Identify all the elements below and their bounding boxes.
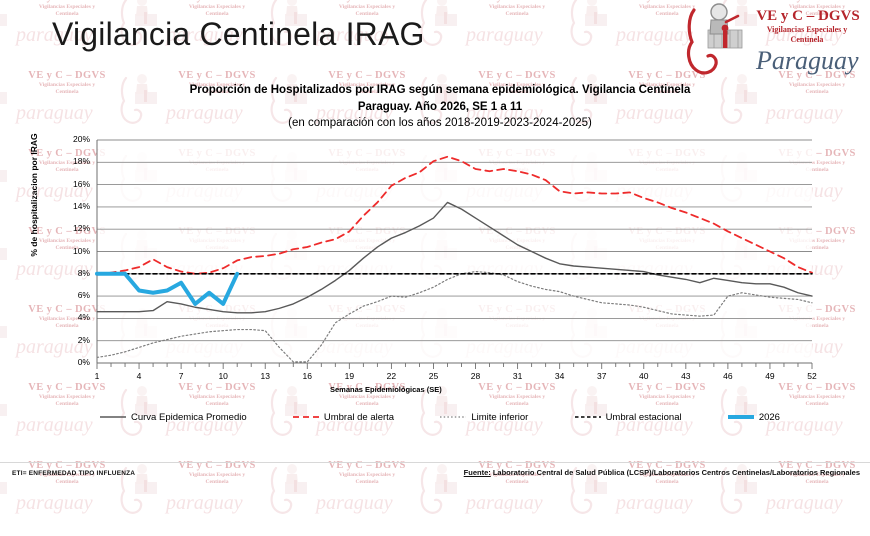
x-axis-tick-label: 13 [253,371,277,381]
x-axis-tick-label: 52 [800,371,824,381]
legend-item-label: Umbral de alerta [324,412,394,423]
legend-item-label: 2026 [759,412,780,423]
y-axis-tick-label: 20% [60,134,90,144]
y-axis-tick-label: 8% [60,268,90,278]
y-axis-label: % de hospitalizacion por IRAG [29,115,39,275]
y-axis-tick-label: 14% [60,201,90,211]
x-axis-tick-label: 37 [590,371,614,381]
logo-title: VE y C – DGVS [752,8,864,25]
legend-item-label: Umbral estacional [606,412,682,423]
red-dashed-line-swatch [293,412,319,422]
solid-line-swatch [100,412,126,422]
x-axis-tick-label: 43 [674,371,698,381]
legend-item[interactable]: Limite inferior [440,412,528,423]
legend-item[interactable]: Umbral estacional [575,412,682,423]
x-axis-tick-label: 34 [548,371,572,381]
y-axis-tick-label: 2% [60,335,90,345]
logo-country: Paraguay [756,46,859,76]
x-axis-tick-label: 22 [379,371,403,381]
x-axis-tick-label: 40 [632,371,656,381]
x-axis-tick-label: 1 [85,371,109,381]
y-axis-tick-label: 10% [60,246,90,256]
y-axis-tick-label: 0% [60,357,90,367]
x-axis-tick-label: 49 [758,371,782,381]
cyan-thick-line-swatch [728,412,754,422]
footer-note: ETI= ENFERMEDAD TIPO INFLUENZA [12,470,135,477]
x-axis-tick-label: 31 [506,371,530,381]
gray-dotted-line-swatch [440,412,466,422]
x-axis-tick-label: 4 [127,371,151,381]
footer-divider [0,462,870,463]
legend-item[interactable]: 2026 [728,412,780,423]
y-axis-tick-label: 12% [60,223,90,233]
footer-source-text: Laboratorio Central de Salud Pública (LC… [491,468,860,477]
page-title: Vigilancia Centinela IRAG [52,16,425,53]
x-axis-tick-label: 28 [464,371,488,381]
logo: VE y C – DGVS Vigilancias Especiales yCe… [686,2,862,82]
chart-title: Proporción de Hospitalizados por IRAG se… [110,82,770,116]
y-axis-tick-label: 16% [60,179,90,189]
x-axis-tick-label: 19 [337,371,361,381]
y-axis-tick-label: 6% [60,290,90,300]
x-axis-tick-label: 46 [716,371,740,381]
chart-subtitle: (en comparación con los años 2018-2019-2… [110,117,770,129]
legend-item-label: Curva Epidemica Promedio [131,412,247,423]
legend-item[interactable]: Curva Epidemica Promedio [100,412,247,423]
chart-legend: Curva Epidemica PromedioUmbral de alerta… [100,406,780,428]
x-axis-tick-label: 7 [169,371,193,381]
chart-title-line1: Proporción de Hospitalizados por IRAG se… [190,84,691,96]
x-axis-tick-label: 10 [211,371,235,381]
legend-item-label: Limite inferior [471,412,528,423]
footer-source: Fuente: Laboratorio Central de Salud Púb… [464,468,860,477]
y-axis-tick-label: 18% [60,156,90,166]
logo-subtitle: Vigilancias Especiales yCentinela [748,25,866,44]
black-dashed-line-swatch [575,412,601,422]
legend-item[interactable]: Umbral de alerta [293,412,394,423]
x-axis-tick-label: 16 [295,371,319,381]
chart-title-line2: Paraguay. Año 2026, SE 1 a 11 [358,101,522,113]
y-axis-tick-label: 4% [60,312,90,322]
footer-source-label: Fuente: [464,468,491,477]
x-axis-label: Semanas Epidemiológicas (SE) [330,385,442,394]
logo-figure-icon [686,2,752,80]
x-axis-tick-label: 25 [421,371,445,381]
